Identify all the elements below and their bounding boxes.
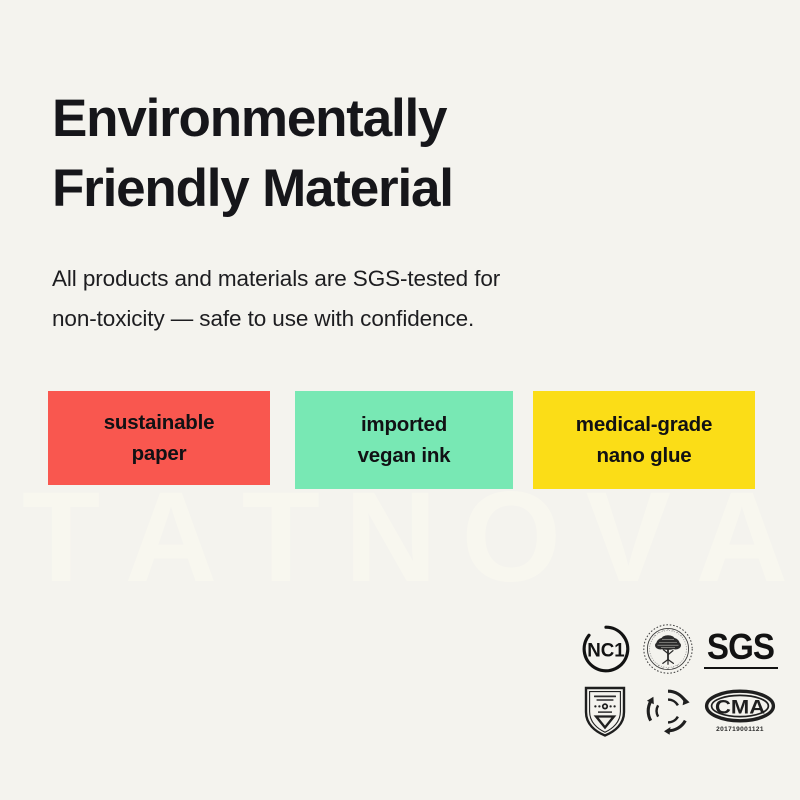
sgs-wordmark-text: SGS [707,629,774,665]
certification-badge-row-1: NC1 [576,620,780,678]
certification-badge-group: NC1 [576,620,780,750]
shield-badge-icon [576,681,634,741]
material-chip-medical-grade-nano-glue: medical-grade nano glue [533,391,755,489]
material-chip-group: sustainable paper imported vegan ink med… [48,391,758,495]
material-chip-label-line-1: sustainable [104,407,215,438]
cma-serial-number: 201719001121 [716,726,764,733]
nc1-circle-badge-icon: NC1 [576,623,636,675]
material-chip-label-line-2: nano glue [596,440,691,471]
recycle-arrows-icon [638,681,698,741]
material-chip-label-line-1: medical-grade [576,409,712,440]
page-title-line-1: Environmentally [52,84,692,154]
svg-text:CMA: CMA [715,697,765,719]
material-chip-label-line-1: imported [361,409,447,440]
material-chip-label-line-2: paper [132,438,187,469]
material-chip-label-line-2: vegan ink [358,440,451,471]
cma-oval-badge-icon: CMA 201719001121 [700,682,780,740]
brand-watermark: T A T N O V A [22,478,788,598]
sgs-underline [704,667,778,670]
page-subtitle: All products and materials are SGS-teste… [52,259,672,339]
page-title-line-2: Friendly Material [52,154,692,224]
certification-badge-row-2: CMA 201719001121 [576,682,780,740]
page-title: Environmentally Friendly Material [52,84,692,225]
material-chip-sustainable-paper: sustainable paper [48,391,270,485]
poster-canvas: T A T N O V A Environmentally Friendly M… [0,0,800,800]
material-chip-imported-vegan-ink: imported vegan ink [295,391,513,489]
svg-text:NC1: NC1 [587,640,625,661]
page-subtitle-line-1: All products and materials are SGS-teste… [52,259,672,299]
sgs-wordmark-icon: SGS [702,625,780,673]
page-subtitle-line-2: non-toxicity — safe to use with confiden… [52,299,672,339]
tree-seal-badge-icon [638,621,698,677]
